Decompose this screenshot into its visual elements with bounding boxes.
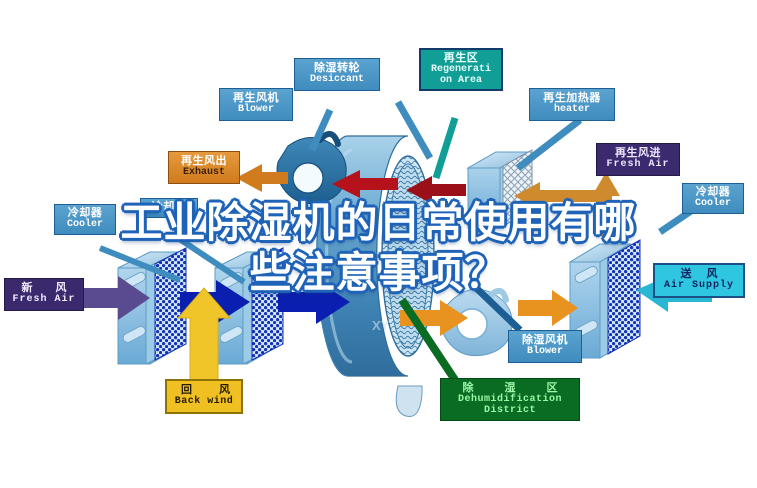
label-cooler-left-1-en: Cooler [57, 220, 113, 231]
label-cooler-left-2-cn: 冷却器 [143, 202, 195, 214]
label-fresh-air-regen[interactable]: 再生风进 Fresh Air [596, 143, 680, 176]
arrow-dry-air-2 [518, 290, 578, 326]
label-fresh-air-en: Fresh Air [7, 295, 81, 306]
label-regen-blower[interactable]: 再生风机 Blower [219, 88, 293, 121]
label-dehum-district[interactable]: 除 湿 区 Dehumidification District [440, 378, 580, 421]
label-regen-area[interactable]: 再生区 Regenerati on Area [419, 48, 503, 91]
label-cooler-right-en: Cooler [685, 199, 741, 210]
label-back-wind-en: Back wind [169, 397, 239, 408]
label-air-supply[interactable]: 送 风 Air Supply [653, 263, 745, 298]
label-cooler-left-1[interactable]: 冷却器 Cooler [54, 204, 116, 235]
label-regen-blower-en: Blower [222, 105, 290, 116]
label-dehum-district-en2: District [443, 406, 577, 417]
label-regen-area-en2: on Area [423, 76, 499, 87]
label-cooler-right[interactable]: 冷却器 Cooler [682, 183, 744, 214]
label-regen-heater-en: heater [532, 105, 612, 116]
arrow-regen-fresh-vertical [592, 172, 620, 236]
label-desiccant-en: Desiccant [297, 75, 377, 86]
label-dehum-blower-en: Blower [511, 347, 579, 358]
label-exhaust-en: Exhaust [171, 168, 237, 179]
label-regen-heater[interactable]: 再生加热器 heater [529, 88, 615, 121]
svg-text:XY: XY [372, 318, 390, 333]
dehumidifier-diagram: XY [0, 0, 757, 488]
label-back-wind[interactable]: 回 风 Back wind [165, 379, 243, 414]
label-exhaust[interactable]: 再生风出 Exhaust [168, 151, 240, 184]
label-fresh-air[interactable]: 新 风 Fresh Air [4, 278, 84, 311]
label-fresh-air-regen-en: Fresh Air [599, 160, 677, 171]
label-desiccant[interactable]: 除湿转轮 Desiccant [294, 58, 380, 91]
label-air-supply-en: Air Supply [657, 281, 741, 292]
label-dehum-blower[interactable]: 除湿风机 Blower [508, 330, 582, 363]
label-cooler-left-2[interactable]: 冷却器 [140, 198, 198, 218]
